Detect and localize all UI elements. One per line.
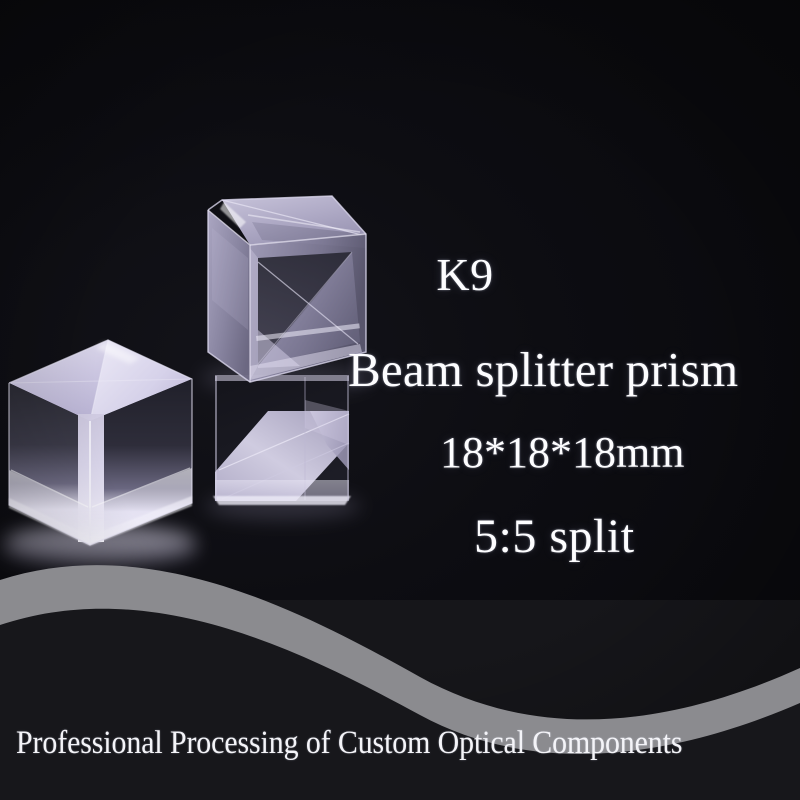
dimensions-label: 18*18*18mm — [440, 428, 684, 478]
footer-tagline: Professional Processing of Custom Optica… — [16, 722, 713, 764]
glass-cube-left-foreground — [5, 340, 195, 556]
glass-cube-lower-center — [213, 375, 351, 505]
material-label: K9 — [0, 250, 800, 300]
product-image-canvas: K9 Beam splitter prism 18*18*18mm 5:5 sp… — [0, 0, 800, 800]
wave-lower-fill — [0, 609, 800, 800]
product-name-label: Beam splitter prism — [348, 342, 738, 398]
split-ratio-label: 5:5 split — [474, 510, 635, 564]
